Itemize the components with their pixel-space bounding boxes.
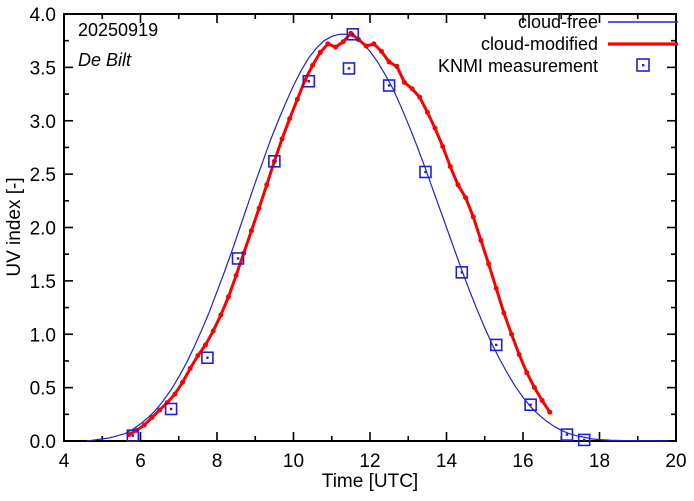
- cloud-modified-marker: [455, 182, 460, 187]
- cloud-modified-marker: [463, 195, 468, 200]
- cloud-modified-marker: [203, 342, 208, 347]
- cloud-modified-marker: [394, 64, 399, 69]
- cloud-modified-marker: [180, 380, 185, 385]
- cloud-modified-marker: [218, 313, 223, 318]
- cloud-modified-marker: [433, 126, 438, 131]
- cloud-modified-marker: [341, 39, 346, 44]
- x-axis-label: Time [UTC]: [322, 471, 418, 492]
- cloud-modified-marker: [402, 80, 407, 85]
- cloud-modified-marker: [195, 353, 200, 358]
- cloud-modified-marker: [325, 41, 330, 46]
- cloud-modified-marker: [509, 332, 514, 337]
- cloud-modified-marker: [471, 214, 476, 219]
- cloud-modified-marker: [280, 136, 285, 141]
- y-tick-label: 3.0: [30, 112, 56, 133]
- legend-label-cloud-free: cloud-free: [518, 12, 598, 32]
- cloud-modified-marker: [264, 182, 269, 187]
- legend-label-knmi-measurement: KNMI measurement: [438, 56, 598, 76]
- chart-canvas: 0.00.51.01.52.02.53.03.54.0 468101214161…: [0, 0, 694, 501]
- station-annotation: De Bilt: [78, 50, 132, 70]
- x-tick-label: 6: [135, 451, 146, 472]
- cloud-modified-marker: [157, 408, 162, 413]
- cloud-modified-marker: [188, 366, 193, 371]
- cloud-modified-marker: [149, 415, 154, 420]
- cloud-modified-marker: [364, 44, 369, 49]
- x-tick-label: 18: [589, 451, 610, 472]
- cloud-modified-marker: [333, 45, 338, 50]
- x-tick-label: 12: [359, 451, 380, 472]
- cloud-modified-marker: [547, 410, 552, 415]
- cloud-modified-marker: [379, 49, 384, 54]
- x-tick-label: 8: [212, 451, 223, 472]
- y-axis-tick-labels: 0.00.51.01.52.02.53.03.54.0: [30, 5, 56, 453]
- cloud-modified-marker: [410, 86, 415, 91]
- cloud-modified-marker: [478, 238, 483, 243]
- x-tick-label: 14: [436, 451, 458, 472]
- y-tick-label: 1.0: [30, 325, 56, 346]
- uv-index-chart-figure: 0.00.51.01.52.02.53.03.54.0 468101214161…: [0, 0, 694, 501]
- cloud-modified-marker: [295, 97, 300, 102]
- y-tick-label: 2.0: [30, 219, 56, 240]
- cloud-modified-marker: [448, 164, 453, 169]
- cloud-modified-marker: [501, 310, 506, 315]
- x-tick-label: 10: [283, 451, 304, 472]
- cloud-modified-marker: [417, 95, 422, 100]
- y-tick-label: 0.5: [30, 379, 56, 400]
- date-annotation: 20250919: [78, 20, 158, 40]
- cloud-modified-marker: [440, 144, 445, 149]
- cloud-modified-marker: [310, 63, 315, 68]
- y-tick-label: 2.5: [30, 165, 56, 186]
- cloud-modified-marker: [524, 370, 529, 375]
- y-tick-label: 1.5: [30, 272, 56, 293]
- cloud-modified-marker: [249, 228, 254, 233]
- cloud-modified-marker: [257, 206, 262, 211]
- cloud-modified-marker: [142, 422, 147, 427]
- y-axis-label: UV index [-]: [4, 177, 25, 276]
- cloud-modified-marker: [425, 110, 430, 115]
- cloud-modified-marker: [211, 329, 216, 334]
- cloud-modified-marker: [318, 50, 323, 55]
- x-tick-label: 4: [59, 451, 70, 472]
- cloud-modified-marker: [172, 392, 177, 397]
- cloud-modified-marker: [287, 116, 292, 121]
- y-tick-label: 0.0: [30, 432, 56, 453]
- y-tick-label: 4.0: [30, 5, 56, 26]
- y-tick-label: 3.5: [30, 58, 56, 79]
- cloud-modified-marker: [234, 273, 239, 278]
- cloud-modified-marker: [532, 385, 537, 390]
- cloud-modified-marker: [226, 294, 231, 299]
- x-tick-label: 16: [512, 451, 533, 472]
- cloud-modified-marker: [486, 261, 491, 266]
- cloud-modified-marker: [540, 398, 545, 403]
- cloud-modified-marker: [494, 286, 499, 291]
- cloud-modified-marker: [387, 60, 392, 65]
- x-tick-label: 20: [665, 451, 686, 472]
- cloud-modified-marker: [371, 41, 376, 46]
- legend-label-cloud-modified: cloud-modified: [481, 34, 598, 54]
- cloud-modified-marker: [517, 352, 522, 357]
